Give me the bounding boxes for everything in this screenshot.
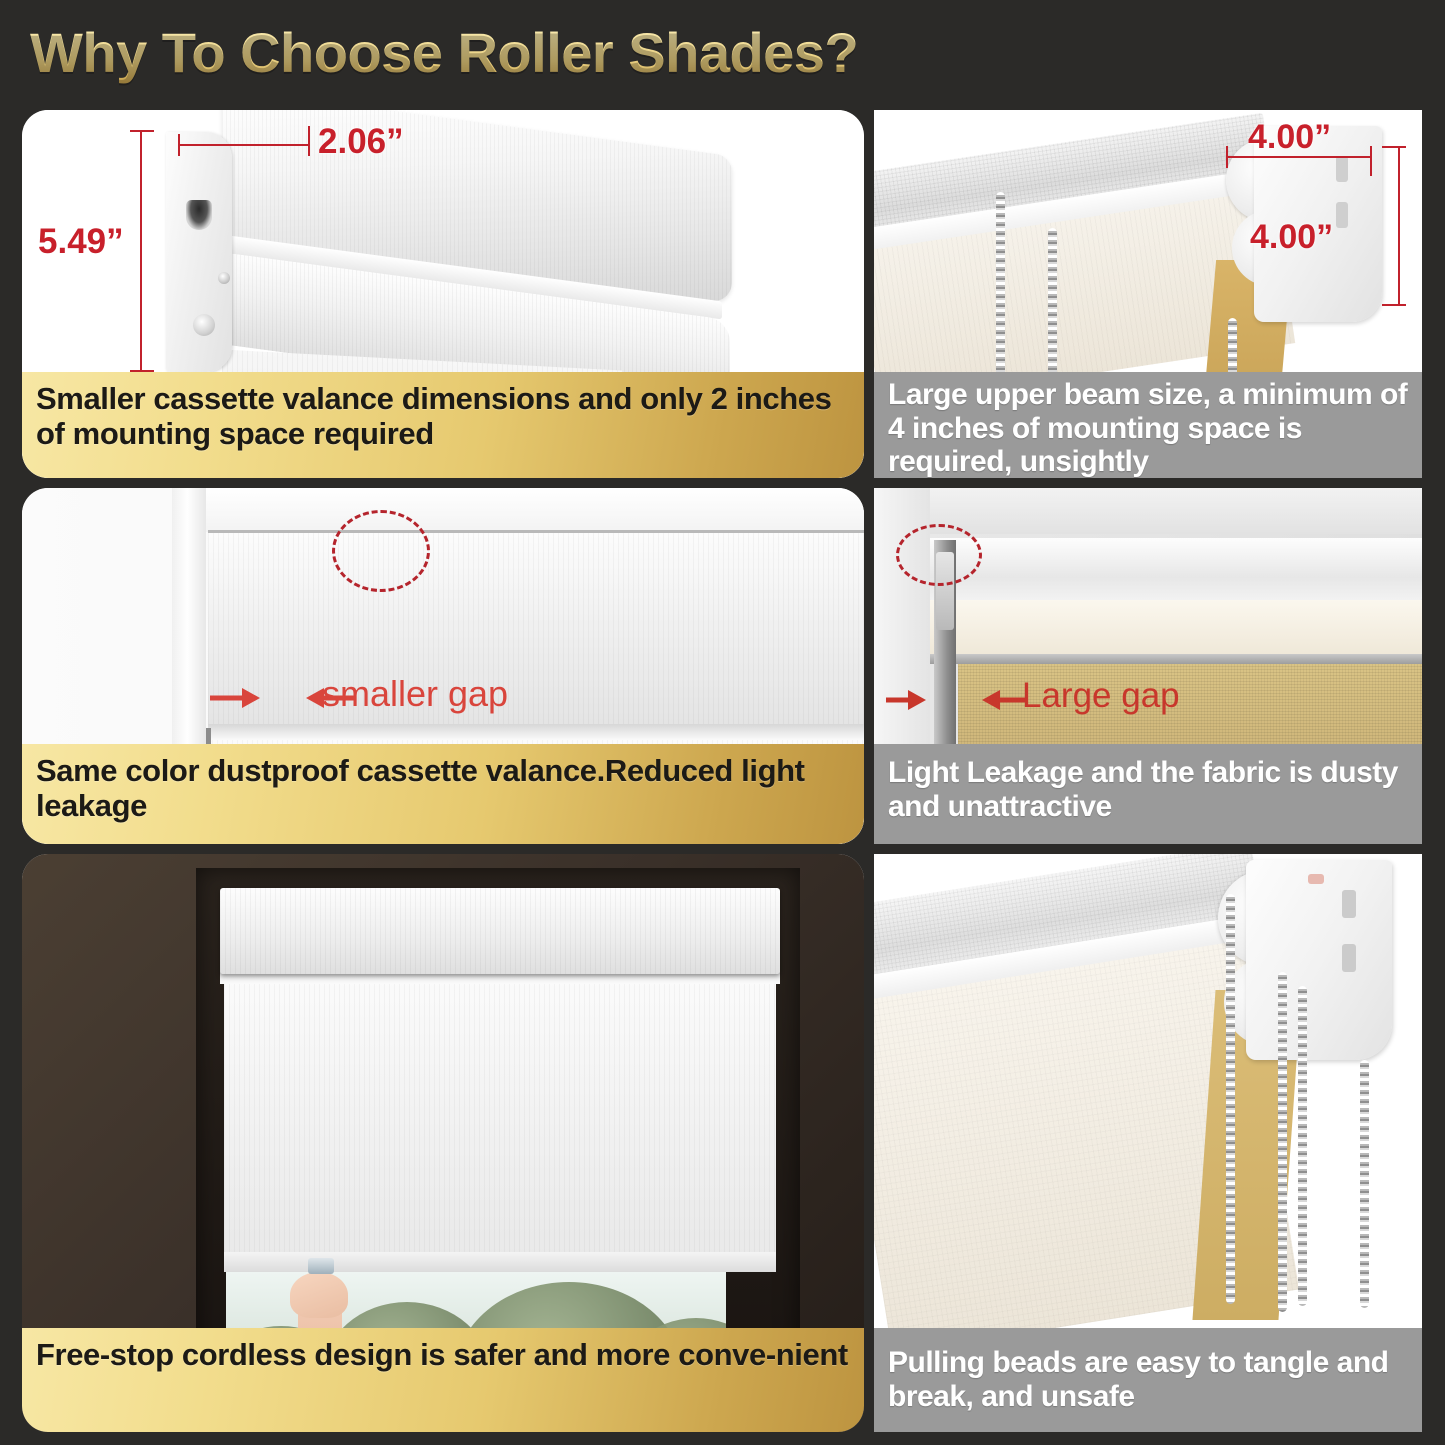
highlight-circle-icon <box>896 524 982 586</box>
bead-chain-right <box>1360 1060 1369 1308</box>
panel-4-caption: Light Leakage and the fabric is dusty an… <box>874 744 1422 844</box>
panel-6-caption: Pulling beads are easy to tangle and bre… <box>874 1328 1422 1432</box>
height-dimension-cap-bottom <box>1382 304 1406 306</box>
cassette-head-rail-shape <box>220 888 780 974</box>
highlight-circle-icon <box>332 510 430 592</box>
width-dimension-line <box>178 144 310 146</box>
panel-cordless-design: Free-stop cordless design is safer and m… <box>22 854 864 1432</box>
comparison-grid: 2.06” 5.49” Smaller cassette valance dim… <box>0 104 1445 1439</box>
panel-2-caption: Large upper beam size, a minimum of 4 in… <box>874 372 1422 478</box>
roller-fabric-roll-shape <box>930 600 1422 656</box>
bead-chain-left <box>1226 894 1235 1304</box>
bracket-slot-upper <box>1342 890 1356 918</box>
panel-light-leakage: Large gap Light Leakage and the fabric i… <box>874 488 1422 844</box>
end-cap-screw-upper <box>218 272 230 284</box>
panel-1-caption: Smaller cassette valance dimensions and … <box>22 372 864 478</box>
gap-arrow-left-icon <box>884 684 946 716</box>
width-dimension-cap-left <box>1226 146 1228 168</box>
end-cap-screw-lower <box>193 314 215 336</box>
panel-5-caption: Free-stop cordless design is safer and m… <box>22 1328 864 1432</box>
panel-pulling-beads: Pulling beads are easy to tangle and bre… <box>874 854 1422 1432</box>
width-dimension-label: 2.06” <box>318 122 404 162</box>
panel-dustproof-valance: smaller gap Same color dustproof cassett… <box>22 488 864 844</box>
height-dimension-cap-top <box>1382 146 1406 148</box>
valance-end-cap <box>166 132 232 372</box>
valance-divider-shape <box>208 724 864 740</box>
roller-tube-shape <box>930 538 1422 604</box>
height-dimension-line <box>1398 146 1400 306</box>
width-dimension-cap-left <box>178 134 180 156</box>
window-frame-top <box>172 488 864 532</box>
width-dimension-label: 4.00” <box>1248 118 1331 157</box>
width-dimension-cap-right <box>1370 146 1372 176</box>
smaller-gap-label: smaller gap <box>322 673 508 715</box>
hand-knuckles-shape <box>290 1272 348 1318</box>
height-dimension-cap-top <box>130 130 154 132</box>
height-dimension-label: 5.49” <box>38 222 124 262</box>
height-dimension-label: 4.00” <box>1250 218 1333 257</box>
page-title-container: Why To Choose Roller Shades? <box>30 18 1230 88</box>
bracket-marker <box>1308 874 1324 884</box>
panel-large-beam: 4.00” 4.00” Large upper beam size, a min… <box>874 110 1422 478</box>
width-dimension-cap-right <box>308 126 310 156</box>
bead-chain-middle-a <box>1278 972 1287 1312</box>
pull-tab-shape <box>308 1258 334 1274</box>
gap-arrow-right-icon <box>958 684 1028 716</box>
height-dimension-line <box>140 130 142 372</box>
large-gap-label: Large gap <box>1022 676 1180 716</box>
bead-chain-middle-b <box>1298 986 1307 1306</box>
bracket-slot-lower <box>1342 944 1356 972</box>
panel-smaller-cassette: 2.06” 5.49” Smaller cassette valance dim… <box>22 110 864 478</box>
panel-3-caption: Same color dustproof cassette valance.Re… <box>22 744 864 844</box>
shade-fabric-shape <box>224 980 776 1256</box>
shade-hem-bar-shape <box>224 1252 776 1272</box>
roller-rail-shape <box>930 654 1422 664</box>
mounting-bracket <box>1246 860 1392 1060</box>
page-title: Why To Choose Roller Shades? <box>30 18 1230 88</box>
